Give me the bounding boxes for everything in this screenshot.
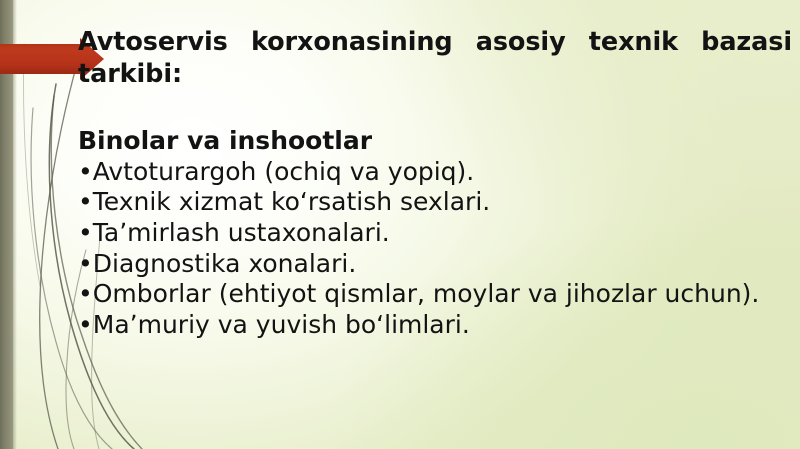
list-item-text: Diagnostika xonalari. xyxy=(93,249,357,278)
bullet-list: •Avtoturargoh (ochiq va yopiq). •Texnik … xyxy=(78,157,792,341)
slide-title-line-1: Avtoservis korxonasining asosiy texnik b… xyxy=(78,26,792,58)
list-item: •Omborlar (ehtiyot qismlar, moylar va ji… xyxy=(78,279,792,310)
list-item: •Avtoturargoh (ochiq va yopiq). xyxy=(78,157,792,188)
title-body-spacer xyxy=(78,90,792,126)
bullet-marker: • xyxy=(78,310,93,339)
list-item-text: Maʼmuriy va yuvish boʻlimlari. xyxy=(93,310,470,339)
list-item: •Taʼmirlash ustaxonalari. xyxy=(78,218,792,249)
list-item-text: Omborlar (ehtiyot qismlar, moylar va jih… xyxy=(93,279,760,308)
presentation-slide: Avtoservis korxonasining asosiy texnik b… xyxy=(0,0,800,449)
list-item-text: Avtoturargoh (ochiq va yopiq). xyxy=(93,157,475,186)
list-item-text: Taʼmirlash ustaxonalari. xyxy=(93,218,390,247)
list-item-text: Texnik xizmat koʻrsatish sexlari. xyxy=(93,187,490,216)
slide-title: Avtoservis korxonasining asosiy texnik b… xyxy=(78,26,792,90)
section-subheading: Binolar va inshootlar xyxy=(78,126,792,157)
bullet-marker: • xyxy=(78,249,93,278)
slide-content: Avtoservis korxonasining asosiy texnik b… xyxy=(78,26,792,341)
list-item: •Diagnostika xonalari. xyxy=(78,249,792,280)
slide-title-line-2: tarkibi: xyxy=(78,58,792,90)
list-item: •Texnik xizmat koʻrsatish sexlari. xyxy=(78,187,792,218)
bullet-marker: • xyxy=(78,187,93,216)
bullet-marker: • xyxy=(78,157,93,186)
bullet-marker: • xyxy=(78,279,93,308)
bullet-marker: • xyxy=(78,218,93,247)
list-item: •Maʼmuriy va yuvish boʻlimlari. xyxy=(78,310,792,341)
